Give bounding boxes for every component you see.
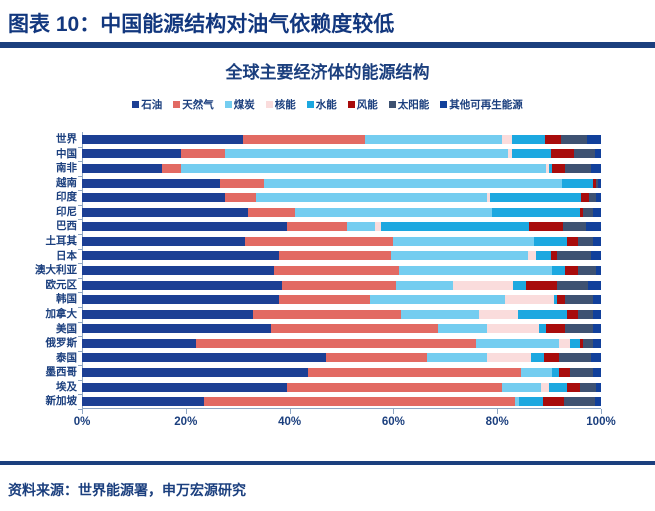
bar-segment[interactable]	[82, 339, 196, 348]
bar-segment[interactable]	[82, 324, 271, 333]
bar-segment[interactable]	[545, 135, 561, 144]
bar-rows: 世界中国南非越南印度印尼巴西土耳其日本澳大利亚欧元区韩国加拿大美国俄罗斯泰国墨西…	[82, 132, 601, 409]
legend-label: 水能	[316, 97, 337, 112]
stacked-bar	[82, 193, 601, 202]
legend-label: 天然气	[182, 97, 214, 112]
bar-segment[interactable]	[598, 179, 601, 188]
legend-label: 风能	[357, 97, 378, 112]
bar-segment[interactable]	[399, 266, 552, 275]
bar-segment[interactable]	[381, 222, 529, 231]
y-axis-label: 俄罗斯	[46, 336, 83, 351]
bar-segment[interactable]	[567, 310, 577, 319]
bar-row[interactable]: 南非	[82, 161, 601, 176]
bar-row[interactable]: 埃及	[82, 380, 601, 395]
x-axis-tick-label: 0%	[74, 416, 91, 428]
y-axis-label: 欧元区	[46, 278, 83, 293]
bar-segment[interactable]	[557, 281, 588, 290]
legend-item-1[interactable]: 天然气	[173, 97, 214, 112]
bar-segment[interactable]	[365, 135, 503, 144]
bar-segment[interactable]	[391, 251, 529, 260]
bar-segment[interactable]	[565, 295, 594, 304]
legend-item-4[interactable]: 水能	[307, 97, 337, 112]
bar-segment[interactable]	[264, 179, 562, 188]
stacked-bar	[82, 149, 601, 158]
stacked-bar	[82, 353, 601, 362]
bar-segment[interactable]	[570, 368, 593, 377]
chart-title: 全球主要经济体的能源结构	[0, 58, 655, 83]
bar-segment[interactable]	[82, 397, 204, 406]
bar-segment[interactable]	[588, 281, 601, 290]
stacked-bar	[82, 208, 601, 217]
bar-segment[interactable]	[559, 368, 569, 377]
bar-segment[interactable]	[565, 324, 594, 333]
stacked-bar	[82, 266, 601, 275]
bar-segment[interactable]	[578, 310, 594, 319]
legend-swatch-icon	[440, 101, 447, 108]
bar-segment[interactable]	[427, 353, 487, 362]
bar-segment[interactable]	[326, 353, 427, 362]
stacked-bar	[82, 397, 601, 406]
y-axis-label: 泰国	[56, 351, 82, 366]
bar-segment[interactable]	[225, 193, 256, 202]
bar-row[interactable]: 中国	[82, 147, 601, 162]
stacked-bar	[82, 179, 601, 188]
bar-segment[interactable]	[528, 251, 535, 260]
bar-segment[interactable]	[253, 310, 401, 319]
x-axis-tick-label: 60%	[382, 416, 405, 428]
bar-segment[interactable]	[274, 266, 399, 275]
bar-segment[interactable]	[521, 368, 552, 377]
bar-segment[interactable]	[476, 339, 559, 348]
bar-segment[interactable]	[196, 339, 476, 348]
y-axis-label: 韩国	[56, 292, 82, 307]
exhibit-title: 图表 10：中国能源结构对油气依赖度较低	[0, 8, 394, 38]
bar-segment[interactable]	[479, 310, 518, 319]
bar-segment[interactable]	[401, 310, 479, 319]
bar-segment[interactable]	[595, 397, 601, 406]
bar-segment[interactable]	[243, 135, 365, 144]
bar-segment[interactable]	[519, 397, 542, 406]
bar-segment[interactable]	[82, 237, 245, 246]
bar-segment[interactable]	[578, 266, 596, 275]
legend-swatch-icon	[132, 101, 139, 108]
x-axis-tick-label: 100%	[586, 416, 615, 428]
stacked-bar	[82, 368, 601, 377]
legend-item-5[interactable]: 风能	[348, 97, 378, 112]
bar-segment[interactable]	[596, 266, 601, 275]
bar-segment[interactable]	[564, 397, 595, 406]
bar-segment[interactable]	[536, 251, 552, 260]
bar-segment[interactable]	[492, 208, 580, 217]
bar-row[interactable]: 泰国	[82, 351, 601, 366]
bar-segment[interactable]	[82, 208, 248, 217]
bar-segment[interactable]	[567, 383, 580, 392]
bar-segment[interactable]	[574, 149, 595, 158]
legend-item-6[interactable]: 太阳能	[389, 97, 430, 112]
bar-row[interactable]: 日本	[82, 249, 601, 264]
legend-label: 煤炭	[234, 97, 255, 112]
bar-segment[interactable]	[534, 237, 568, 246]
y-axis-label: 世界	[56, 132, 82, 147]
legend-swatch-icon	[307, 101, 314, 108]
x-axis-tick-label: 20%	[174, 416, 197, 428]
x-axis-tick-label: 80%	[486, 416, 509, 428]
bar-segment[interactable]	[543, 397, 564, 406]
y-axis-label: 日本	[56, 249, 82, 264]
bar-segment[interactable]	[82, 149, 181, 158]
bar-segment[interactable]	[181, 149, 225, 158]
legend-swatch-icon	[389, 101, 396, 108]
legend-item-2[interactable]: 煤炭	[225, 97, 255, 112]
bar-segment[interactable]	[393, 237, 533, 246]
x-axis-tick	[82, 409, 83, 414]
x-axis-tick	[497, 409, 498, 414]
bar-segment[interactable]	[162, 164, 180, 173]
y-axis-label: 越南	[56, 176, 82, 191]
bar-segment[interactable]	[583, 208, 593, 217]
legend-swatch-icon	[225, 101, 232, 108]
bar-segment[interactable]	[596, 193, 601, 202]
stacked-bar	[82, 339, 601, 348]
bar-row[interactable]: 土耳其	[82, 234, 601, 249]
x-axis-tick	[290, 409, 291, 414]
bar-segment[interactable]	[512, 149, 551, 158]
bar-segment[interactable]	[82, 310, 253, 319]
stacked-bar	[82, 237, 601, 246]
bar-segment[interactable]	[82, 251, 279, 260]
y-axis-label: 印度	[56, 190, 82, 205]
bar-segment[interactable]	[248, 208, 295, 217]
bar-segment[interactable]	[453, 281, 513, 290]
chart-legend: 石油天然气煤炭核能水能风能太阳能其他可再生能源	[0, 97, 655, 112]
bar-segment[interactable]	[82, 383, 287, 392]
bar-segment[interactable]	[593, 208, 601, 217]
bar-segment[interactable]	[82, 179, 220, 188]
legend-item-7[interactable]: 其他可再生能源	[440, 97, 523, 112]
x-axis-tick	[186, 409, 187, 414]
bar-segment[interactable]	[551, 149, 574, 158]
y-axis-label: 澳大利亚	[35, 263, 82, 278]
bar-segment[interactable]	[438, 324, 487, 333]
stacked-bar	[82, 222, 601, 231]
bar-segment[interactable]	[82, 135, 243, 144]
bar-segment[interactable]	[225, 149, 508, 158]
bar-segment[interactable]	[513, 281, 526, 290]
stacked-bar	[82, 310, 601, 319]
bar-segment[interactable]	[541, 383, 549, 392]
bar-row[interactable]: 墨西哥	[82, 365, 601, 380]
bar-segment[interactable]	[589, 193, 597, 202]
bar-segment[interactable]	[593, 310, 601, 319]
y-axis-label: 印尼	[56, 205, 82, 220]
bar-segment[interactable]	[502, 383, 541, 392]
bar-segment[interactable]	[595, 149, 601, 158]
bar-segment[interactable]	[220, 179, 264, 188]
legend-label: 其他可再生能源	[449, 97, 523, 112]
bar-row[interactable]: 印度	[82, 190, 601, 205]
bar-segment[interactable]	[587, 135, 601, 144]
bar-segment[interactable]	[505, 295, 554, 304]
bar-segment[interactable]	[563, 222, 586, 231]
legend-swatch-icon	[266, 101, 273, 108]
bar-row[interactable]: 加拿大	[82, 307, 601, 322]
bar-row[interactable]: 澳大利亚	[82, 263, 601, 278]
bar-segment[interactable]	[596, 383, 601, 392]
bar-segment[interactable]	[308, 368, 521, 377]
bar-segment[interactable]	[552, 368, 560, 377]
bar-segment[interactable]	[490, 193, 581, 202]
bar-segment[interactable]	[487, 324, 539, 333]
stacked-bar	[82, 295, 601, 304]
bar-segment[interactable]	[181, 164, 547, 173]
bar-segment[interactable]	[570, 339, 580, 348]
bar-segment[interactable]	[593, 368, 601, 377]
bar-segment[interactable]	[82, 164, 162, 173]
bar-row[interactable]: 新加坡	[82, 394, 601, 409]
bar-segment[interactable]	[82, 353, 326, 362]
legend-item-0[interactable]: 石油	[132, 97, 162, 112]
stacked-bar	[82, 251, 601, 260]
bar-segment[interactable]	[580, 383, 596, 392]
bar-segment[interactable]	[204, 397, 515, 406]
source-note: 资料来源：世界能源署，申万宏源研究	[8, 472, 648, 508]
y-axis-label: 埃及	[56, 380, 82, 395]
bar-segment[interactable]	[82, 281, 282, 290]
bar-segment[interactable]	[279, 251, 391, 260]
bar-segment[interactable]	[82, 266, 274, 275]
chart-area: 全球主要经济体的能源结构 石油天然气煤炭核能水能风能太阳能其他可再生能源 世界中…	[0, 48, 655, 458]
y-axis-label: 墨西哥	[46, 365, 83, 380]
y-axis-label: 新加坡	[46, 394, 83, 409]
plot-area: 世界中国南非越南印度印尼巴西土耳其日本澳大利亚欧元区韩国加拿大美国俄罗斯泰国墨西…	[82, 132, 601, 409]
bar-segment[interactable]	[557, 295, 565, 304]
bar-segment[interactable]	[552, 266, 565, 275]
bar-row[interactable]: 俄罗斯	[82, 336, 601, 351]
bar-segment[interactable]	[82, 295, 279, 304]
bar-segment[interactable]	[82, 368, 308, 377]
bar-row[interactable]: 美国	[82, 322, 601, 337]
bar-row[interactable]: 韩国	[82, 292, 601, 307]
bar-segment[interactable]	[502, 135, 511, 144]
bar-segment[interactable]	[287, 383, 502, 392]
bar-row[interactable]: 欧元区	[82, 278, 601, 293]
bar-segment[interactable]	[370, 295, 505, 304]
bar-segment[interactable]	[557, 251, 591, 260]
bar-segment[interactable]	[271, 324, 437, 333]
bar-segment[interactable]	[578, 237, 594, 246]
stacked-bar	[82, 324, 601, 333]
bar-segment[interactable]	[593, 324, 601, 333]
legend-label: 核能	[275, 97, 296, 112]
bar-segment[interactable]	[347, 222, 376, 231]
x-axis-tick	[601, 409, 602, 414]
bar-segment[interactable]	[552, 164, 565, 173]
bar-segment[interactable]	[559, 339, 569, 348]
bar-segment[interactable]	[581, 193, 589, 202]
bar-segment[interactable]	[396, 281, 453, 290]
bar-segment[interactable]	[82, 193, 225, 202]
bar-segment[interactable]	[287, 222, 347, 231]
stacked-bar	[82, 281, 601, 290]
legend-swatch-icon	[348, 101, 355, 108]
footer-divider	[0, 461, 655, 465]
x-axis-tick	[393, 409, 394, 414]
bar-segment[interactable]	[245, 237, 393, 246]
bar-segment[interactable]	[518, 310, 567, 319]
bar-segment[interactable]	[591, 251, 601, 260]
y-axis-label: 美国	[56, 322, 82, 337]
bar-segment[interactable]	[561, 135, 587, 144]
legend-swatch-icon	[173, 101, 180, 108]
bar-segment[interactable]	[583, 339, 593, 348]
bar-segment[interactable]	[562, 179, 593, 188]
chart-exhibit-page: 图表 10：中国能源结构对油气依赖度较低 全球主要经济体的能源结构 石油天然气煤…	[0, 0, 655, 511]
stacked-bar	[82, 164, 601, 173]
y-axis-label: 土耳其	[46, 234, 83, 249]
stacked-bar	[82, 383, 601, 392]
y-axis-label: 中国	[56, 147, 82, 162]
bar-segment[interactable]	[295, 208, 492, 217]
legend-label: 太阳能	[398, 97, 430, 112]
bar-segment[interactable]	[279, 295, 370, 304]
bar-segment[interactable]	[591, 353, 601, 362]
x-axis: 0%20%40%60%80%100%	[82, 409, 601, 449]
bar-segment[interactable]	[549, 383, 567, 392]
legend-item-3[interactable]: 核能	[266, 97, 296, 112]
bar-segment[interactable]	[591, 164, 601, 173]
bar-segment[interactable]	[282, 281, 396, 290]
bar-segment[interactable]	[593, 339, 601, 348]
x-axis-tick-label: 40%	[278, 416, 301, 428]
bar-segment[interactable]	[593, 295, 601, 304]
y-axis-label: 巴西	[56, 219, 82, 234]
bar-segment[interactable]	[546, 324, 564, 333]
bar-segment[interactable]	[593, 237, 601, 246]
bar-segment[interactable]	[256, 193, 487, 202]
bar-row[interactable]: 印尼	[82, 205, 601, 220]
bar-row[interactable]: 世界	[82, 132, 601, 147]
y-axis-label: 加拿大	[46, 307, 83, 322]
bar-segment[interactable]	[512, 135, 546, 144]
bar-segment[interactable]	[487, 353, 531, 362]
bar-segment[interactable]	[567, 237, 577, 246]
bar-row[interactable]: 越南	[82, 176, 601, 191]
bar-segment[interactable]	[531, 353, 544, 362]
exhibit-header: 图表 10：中国能源结构对油气依赖度较低	[0, 0, 655, 46]
y-axis-label: 南非	[56, 161, 82, 176]
bar-segment[interactable]	[559, 353, 590, 362]
bar-segment[interactable]	[565, 164, 591, 173]
bar-segment[interactable]	[82, 222, 287, 231]
stacked-bar	[82, 135, 601, 144]
bar-row[interactable]: 巴西	[82, 219, 601, 234]
bar-segment[interactable]	[565, 266, 578, 275]
legend-label: 石油	[141, 97, 162, 112]
bar-segment[interactable]	[526, 281, 557, 290]
bar-segment[interactable]	[544, 353, 560, 362]
bar-segment[interactable]	[539, 324, 547, 333]
bar-segment[interactable]	[586, 222, 601, 231]
bar-segment[interactable]	[529, 222, 563, 231]
